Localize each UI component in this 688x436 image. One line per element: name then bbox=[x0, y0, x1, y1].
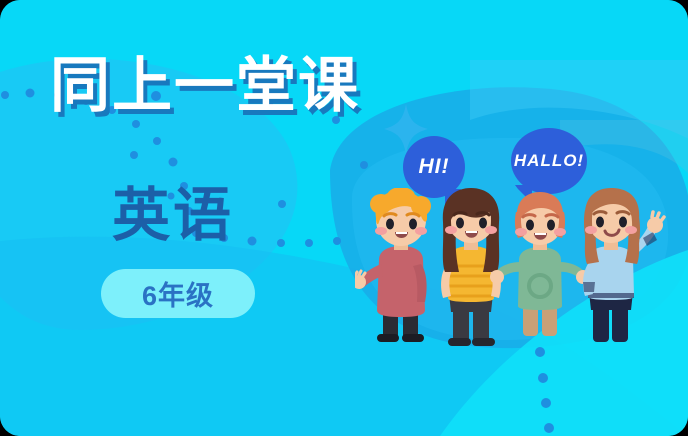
char1-fingers bbox=[355, 271, 365, 276]
char2-eye-right bbox=[479, 218, 487, 229]
grade-badge: 6年级 bbox=[101, 269, 255, 318]
children-illustration-group bbox=[355, 188, 685, 348]
char2-shoe-right bbox=[472, 338, 495, 346]
char3-blush-right bbox=[554, 228, 566, 236]
char3-eye-right bbox=[547, 220, 555, 231]
char1-shoe-left bbox=[377, 334, 399, 342]
char2-teeth bbox=[466, 231, 477, 233]
char1-blush-left bbox=[375, 227, 387, 235]
char3-hand-left bbox=[490, 270, 504, 284]
course-banner-card: 同上一堂课 英语 6年级 HI! HALLO! bbox=[0, 0, 688, 436]
character-boy-blond-waving bbox=[355, 188, 431, 342]
char1-blush-right bbox=[415, 227, 427, 235]
char1-eye-left bbox=[386, 219, 394, 230]
speech-bubble-hallo: HALLO! bbox=[511, 128, 587, 194]
char3-teeth bbox=[535, 233, 546, 235]
char4-shirt-hem bbox=[588, 293, 634, 298]
character-boy-green-shirt bbox=[490, 192, 590, 336]
char2-eye-left bbox=[456, 218, 464, 229]
char2-shoe-left bbox=[448, 338, 471, 346]
char4-eye-left bbox=[596, 217, 604, 228]
char4-sleeve-trim-left bbox=[583, 282, 595, 292]
char2-blush-right bbox=[485, 226, 497, 234]
character-girl-blue-shirt bbox=[583, 188, 664, 342]
char1-shoe-right bbox=[402, 334, 424, 342]
char1-eye-right bbox=[409, 219, 417, 230]
char3-blush-left bbox=[515, 228, 527, 236]
speech-bubble-hi-text: HI! bbox=[419, 155, 450, 179]
char3-shirt bbox=[518, 247, 562, 310]
page-title: 同上一堂课 bbox=[50, 55, 360, 117]
char4-blush-right bbox=[625, 226, 637, 234]
speech-bubble-hallo-text: HALLO! bbox=[514, 151, 584, 171]
char2-blush-left bbox=[445, 226, 457, 234]
character-girl-brown-striped bbox=[441, 188, 501, 346]
char3-eye-left bbox=[526, 220, 534, 231]
subject-title: 英语 bbox=[112, 186, 234, 246]
char1-teeth bbox=[396, 232, 407, 234]
grade-badge-label: 6年级 bbox=[142, 274, 214, 313]
char4-eye-right bbox=[619, 217, 627, 228]
char4-blush-left bbox=[585, 226, 597, 234]
title-block: 同上一堂课 英语 6年级 bbox=[0, 0, 360, 436]
